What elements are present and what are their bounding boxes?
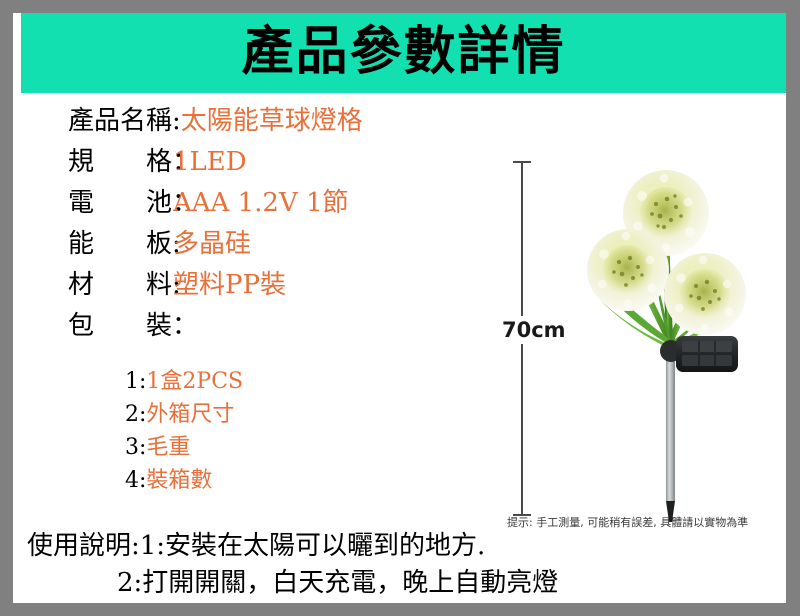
spec-value: 太陽能草球燈格	[181, 106, 363, 136]
spec-label: 電池：	[68, 183, 173, 224]
solar-light-illustration	[568, 108, 786, 528]
ground-stake-icon	[666, 336, 675, 522]
spec-label-part-a: 規	[68, 142, 94, 183]
list-item-label: 1盒2PCS	[146, 369, 243, 394]
spec-value: 塑料PP裝	[173, 270, 286, 300]
page-title: 產品參數詳情	[21, 15, 786, 89]
spec-row-solar-panel: 能板:多晶硅	[68, 224, 488, 265]
spec-label: 產品名稱:	[68, 101, 181, 142]
spec-value: 多晶硅	[173, 229, 251, 259]
spec-row-model: 規格：1LED	[68, 142, 488, 183]
usage-line-2: 2:打開開關，白天充電，晚上自動亮燈	[27, 565, 587, 602]
usage-instructions: 使用說明:1:安裝在太陽可以曬到的地方. 2:打開開關，白天充電，晚上自動亮燈	[27, 528, 587, 602]
list-item: 2:外箱尺寸	[125, 398, 455, 431]
flower-head-right	[664, 253, 746, 335]
product-photo	[568, 108, 786, 528]
header-banner: 產品參數詳情	[21, 13, 786, 93]
spec-label-part-b: 裝：	[146, 306, 198, 347]
spec-label: 規格：	[68, 142, 173, 183]
flower-head-left	[587, 229, 669, 311]
spec-label-part-a: 能	[68, 224, 94, 265]
spec-label: 材料:	[68, 265, 173, 306]
spec-label-part-a: 電	[68, 183, 94, 224]
spec-row-battery: 電池：AAA 1.2V 1節	[68, 183, 488, 224]
packaging-detail-list: 1:1盒2PCS 2:外箱尺寸 3:毛重 4:裝箱數	[125, 365, 455, 497]
spec-value: 1LED	[173, 147, 247, 177]
product-spec-image: 產品參數詳情 產品名稱:太陽能草球燈格 規格：1LED 電池：AAA 1.2V …	[0, 0, 800, 616]
spec-row-product-name: 產品名稱:太陽能草球燈格	[68, 101, 488, 142]
list-item-number: 4:	[125, 468, 146, 493]
spec-row-material: 材料:塑料PP裝	[68, 265, 488, 306]
list-item: 3:毛重	[125, 431, 455, 464]
list-item-number: 3:	[125, 435, 146, 460]
list-item-label: 外箱尺寸	[146, 402, 234, 427]
usage-line-1: 使用說明:1:安裝在太陽可以曬到的地方.	[27, 528, 587, 565]
spec-row-packaging: 包裝：	[68, 306, 488, 347]
spec-value: AAA 1.2V 1節	[173, 188, 349, 218]
list-item-number: 2:	[125, 402, 146, 427]
spec-label-part-a: 材	[68, 265, 94, 306]
spec-list: 產品名稱:太陽能草球燈格 規格：1LED 電池：AAA 1.2V 1節 能板:多…	[68, 101, 488, 347]
list-item-label: 毛重	[146, 435, 190, 460]
image-canvas: 產品參數詳情 產品名稱:太陽能草球燈格 規格：1LED 電池：AAA 1.2V …	[13, 13, 786, 603]
dimension-label: 70cm	[499, 316, 569, 344]
spec-label: 包裝：	[68, 306, 173, 347]
spec-label: 能板:	[68, 224, 173, 265]
list-item: 4:裝箱數	[125, 464, 455, 497]
spec-label-part-a: 包	[68, 306, 94, 347]
spec-label-part-a: 產品名稱:	[68, 101, 181, 142]
list-item: 1:1盒2PCS	[125, 365, 455, 398]
list-item-number: 1:	[125, 369, 146, 394]
list-item-label: 裝箱數	[146, 468, 212, 493]
